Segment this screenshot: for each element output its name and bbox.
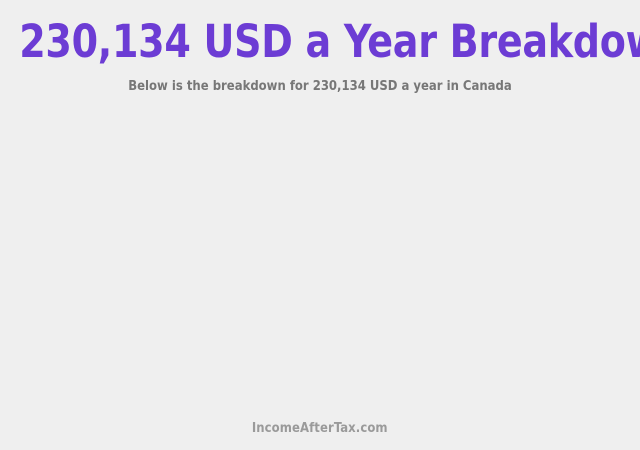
page-footer: IncomeAfterTax.com [0,419,640,450]
chart-plot-area [20,100,620,419]
page-title: 230,134 USD a Year Breakdown [19,18,621,65]
page-subtitle: Below is the breakdown for 230,134 USD a… [13,79,627,94]
income-breakdown-page: 230,134 USD a Year Breakdown Below is th… [0,0,640,450]
site-credit: IncomeAfterTax.com [252,420,388,436]
chart-region [20,100,620,419]
page-header: 230,134 USD a Year Breakdown Below is th… [0,0,640,94]
